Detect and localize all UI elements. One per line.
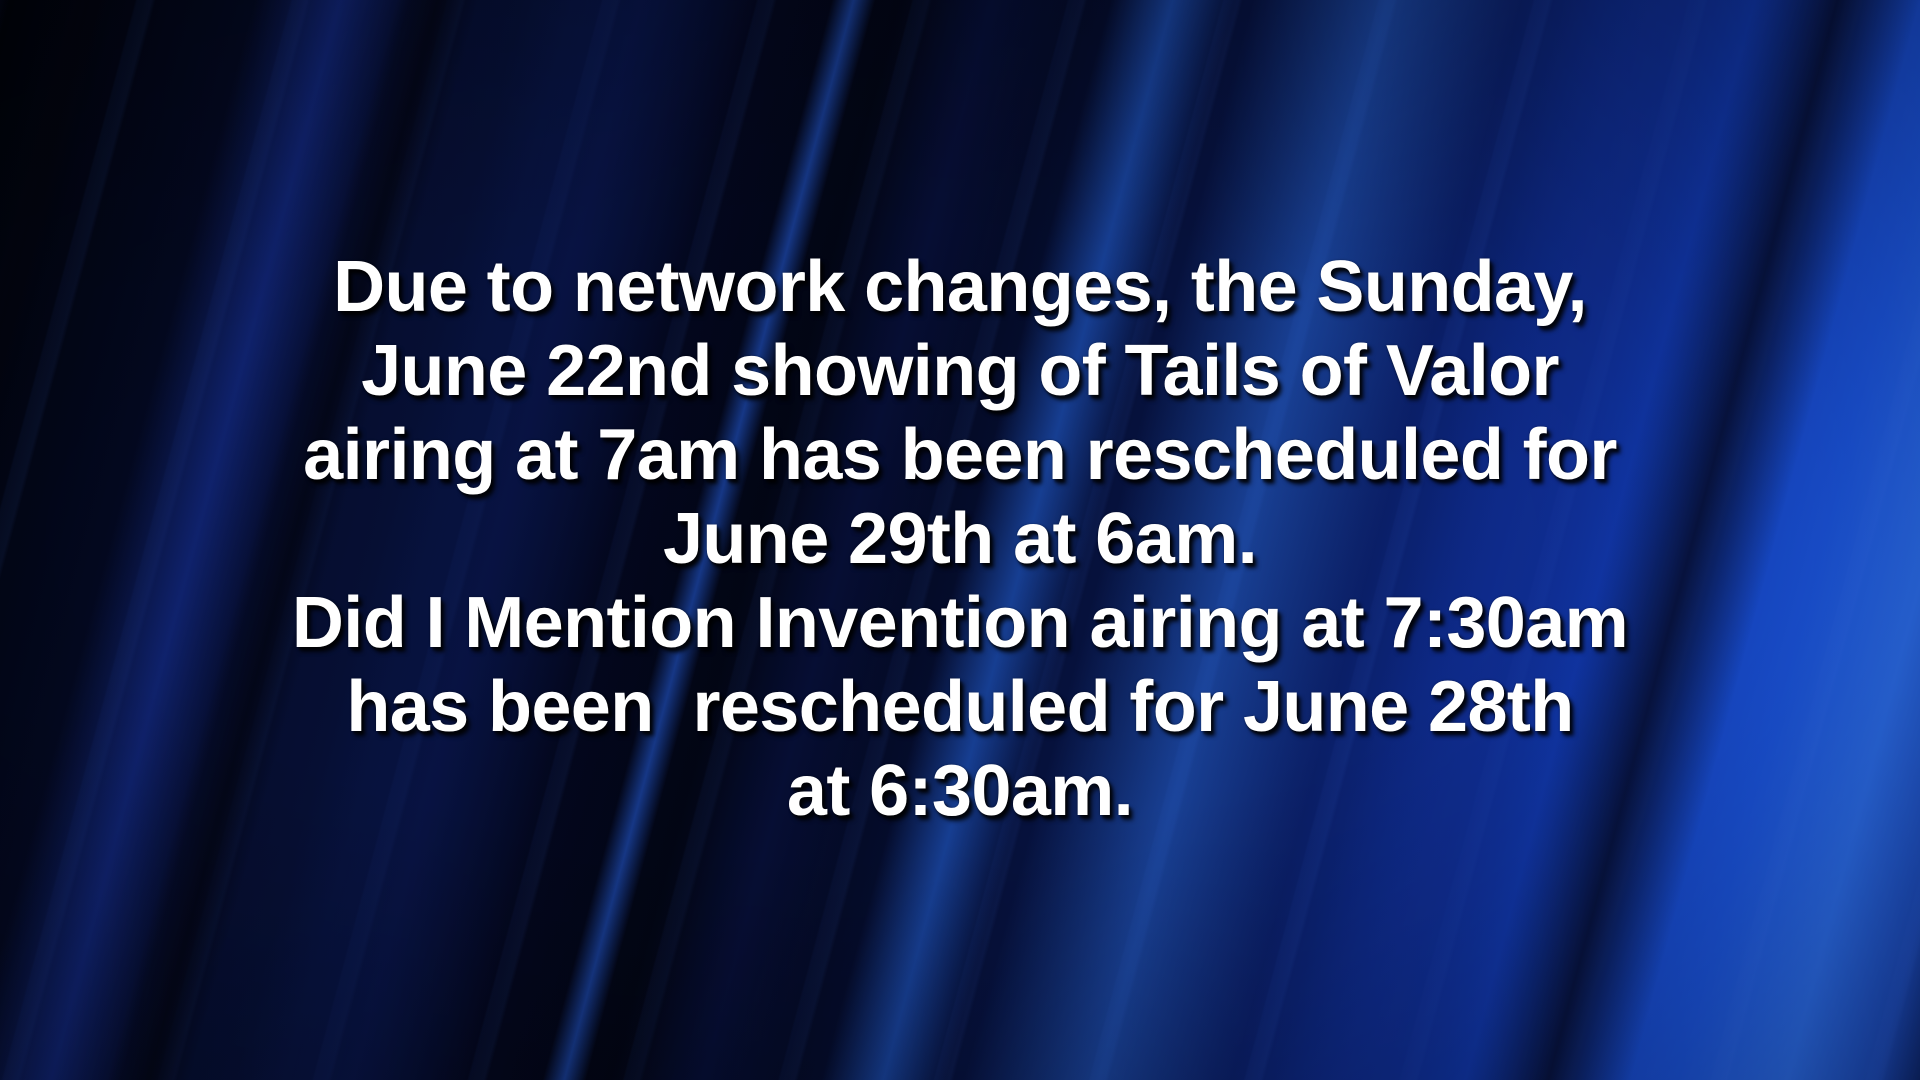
message-line-3: airing at 7am has been rescheduled for [303,414,1617,498]
message-line-7: at 6:30am. [787,750,1133,834]
message-line-6: has been rescheduled for June 28th [346,666,1573,750]
announcement-slate: Due to network changes, the Sunday, June… [0,0,1920,1080]
message-line-2: June 22nd showing of Tails of Valor [361,330,1559,414]
message-line-5: Did I Mention Invention airing at 7:30am [292,582,1628,666]
message-line-1: Due to network changes, the Sunday, [333,246,1587,330]
message-line-4: June 29th at 6am. [663,498,1257,582]
announcement-message: Due to network changes, the Sunday, June… [0,0,1920,1080]
